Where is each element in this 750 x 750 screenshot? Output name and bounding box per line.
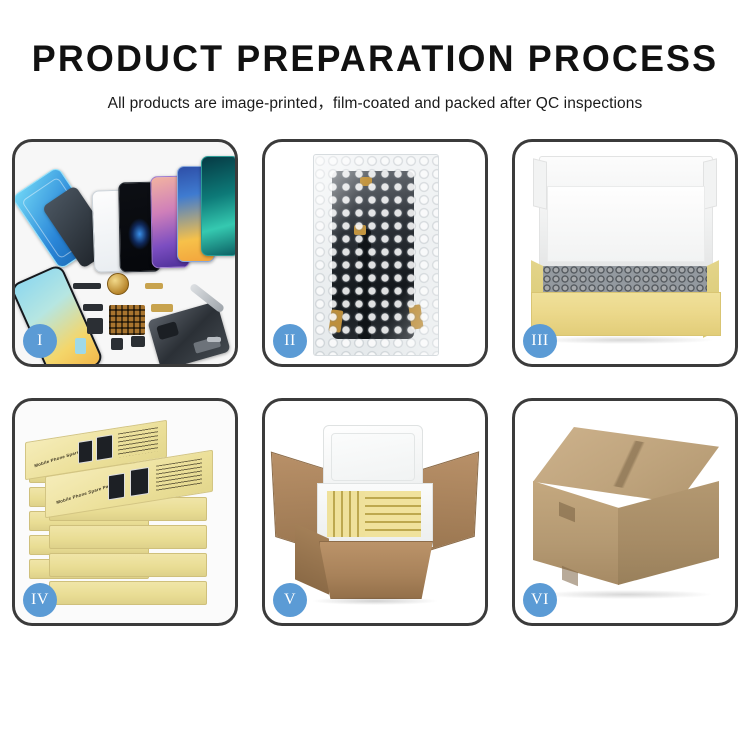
wrapped-screen-icon <box>332 171 414 339</box>
carton-shadow <box>313 597 437 605</box>
vibrator-motor-icon <box>107 273 129 295</box>
box-label-specs-1 <box>118 427 158 457</box>
stack-box-fr-3 <box>49 553 207 577</box>
gold-flex-cable-icon <box>145 283 163 289</box>
step-panel-5[interactable]: V <box>262 398 488 626</box>
step-panel-3[interactable]: III <box>512 139 738 367</box>
gold-tape-top-icon <box>360 177 372 186</box>
step-panel-6[interactable]: VI <box>512 398 738 626</box>
step-badge-3: III <box>523 324 557 358</box>
teal-phone-icon <box>201 156 235 256</box>
page-title: PRODUCT PREPARATION PROCESS <box>11 0 739 77</box>
stack-box-fr-2 <box>49 525 207 549</box>
bubble-wrap-bag-icon <box>313 154 439 356</box>
box-label-text-2: Mobile Phone Spare Parts <box>56 482 115 505</box>
yellow-box-front-icon <box>531 292 721 336</box>
flex-ribbon-icon <box>151 304 173 312</box>
box-label-phone-b2 <box>130 467 149 497</box>
sim-tray-icon <box>75 338 86 354</box>
speaker-mesh-icon <box>131 336 145 347</box>
earpiece-speaker-icon <box>73 283 101 289</box>
stack-box-fr-4 <box>49 581 207 605</box>
step-badge-4: IV <box>23 583 57 617</box>
yellow-boxes-vertical-icon <box>327 491 365 537</box>
logic-board-grid-icon <box>109 305 145 335</box>
white-foam-sheet-icon <box>547 186 705 262</box>
button-component-icon <box>111 338 123 350</box>
box-label-phone-b1 <box>96 434 113 461</box>
box-shadow <box>537 336 713 344</box>
yellow-boxes-inside-icon <box>327 491 421 537</box>
lid-tab-right-icon <box>703 158 717 209</box>
step-badge-5: V <box>273 583 307 617</box>
small-connector-icon <box>83 304 103 311</box>
gold-tape-mid-icon <box>354 225 366 235</box>
page-header: PRODUCT PREPARATION PROCESS All products… <box>0 0 750 113</box>
step-badge-2: II <box>273 324 307 358</box>
step-panel-2[interactable]: II <box>262 139 488 367</box>
page-subtitle: All products are image-printed，film-coat… <box>0 77 750 113</box>
foam-cooler-lid-icon <box>323 425 423 489</box>
process-steps-grid: I II <box>12 139 738 681</box>
gold-tape-bottom-right-icon <box>408 304 423 329</box>
carton-shadow <box>541 590 711 599</box>
box-label-phone-a1 <box>78 439 93 463</box>
yellow-boxes-horizontal-icon <box>365 491 421 537</box>
step-panel-1[interactable]: I <box>12 139 238 367</box>
carton-left-face-icon <box>533 481 619 585</box>
carton-front-icon <box>319 541 433 599</box>
step-badge-1: I <box>23 324 57 358</box>
carton-right-face-icon <box>618 481 719 585</box>
camera-module-icon <box>87 318 103 334</box>
step-badge-6: VI <box>523 583 557 617</box>
box-label-specs-2 <box>156 458 202 491</box>
screen-flex-cable-icon <box>358 229 371 339</box>
screw-set-icon <box>207 337 221 342</box>
lid-tab-left-icon <box>533 158 547 209</box>
step-panel-4[interactable]: Mobile Phone Spare Parts Mobile Phone Sp… <box>12 398 238 626</box>
box-label-phone-a2 <box>108 473 125 501</box>
